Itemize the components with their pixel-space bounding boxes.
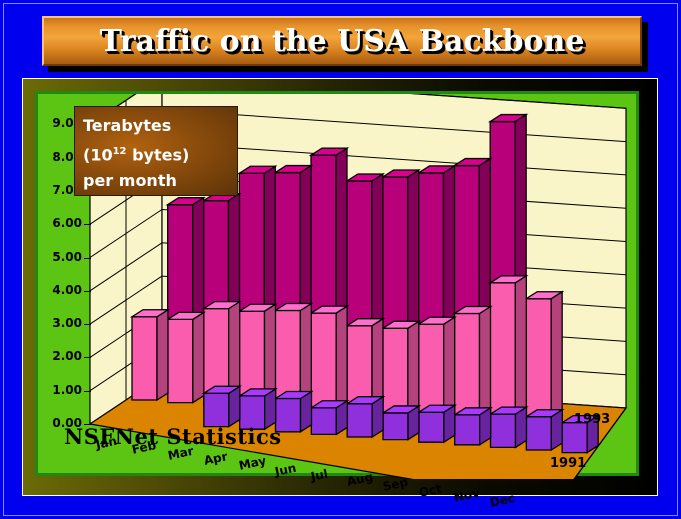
y-axis-tick-mark (84, 258, 91, 259)
y-axis-tick: 4.00 (38, 283, 82, 297)
y-axis-tick-mark (84, 291, 91, 292)
x-axis-label-jul: Jul (310, 466, 330, 483)
y-axis-tick-mark (84, 224, 91, 225)
chart-frame: 9.008.007.006.005.004.003.002.001.000.00… (22, 78, 658, 496)
legend-line-1: Terabytes (83, 113, 229, 139)
y-axis-tick-mark (84, 324, 91, 325)
y-axis-tick: 2.00 (38, 349, 82, 363)
y-axis-tick: 6.00 (38, 216, 82, 230)
page-title: Traffic on the USA Backbone (100, 24, 585, 59)
title-banner: Traffic on the USA Backbone (42, 16, 642, 66)
slide: Traffic on the USA Backbone 9.008.007.00… (0, 0, 681, 519)
legend-line-2-suffix: bytes) (127, 145, 190, 164)
y-axis-tick: 3.00 (38, 316, 82, 330)
legend-line-3: per month (83, 168, 229, 194)
chart-footer-caption: NSFNet Statistics (64, 424, 282, 449)
legend-box: Terabytes (1012 bytes) per month (74, 106, 238, 196)
y-axis-tick-mark (84, 357, 91, 358)
y-axis-tick: 1.00 (38, 383, 82, 397)
legend-exponent: 12 (113, 146, 127, 157)
chart-panel: 9.008.007.006.005.004.003.002.001.000.00… (35, 91, 639, 476)
legend-line-2: (1012 bytes) (83, 139, 229, 168)
z-axis-label-1991: 1991 (550, 456, 586, 471)
y-axis-tick-mark (84, 391, 91, 392)
y-axis-tick: 5.00 (38, 250, 82, 264)
legend-line-2-prefix: (10 (83, 145, 113, 164)
z-axis-label-1993: 1993 (574, 412, 610, 427)
